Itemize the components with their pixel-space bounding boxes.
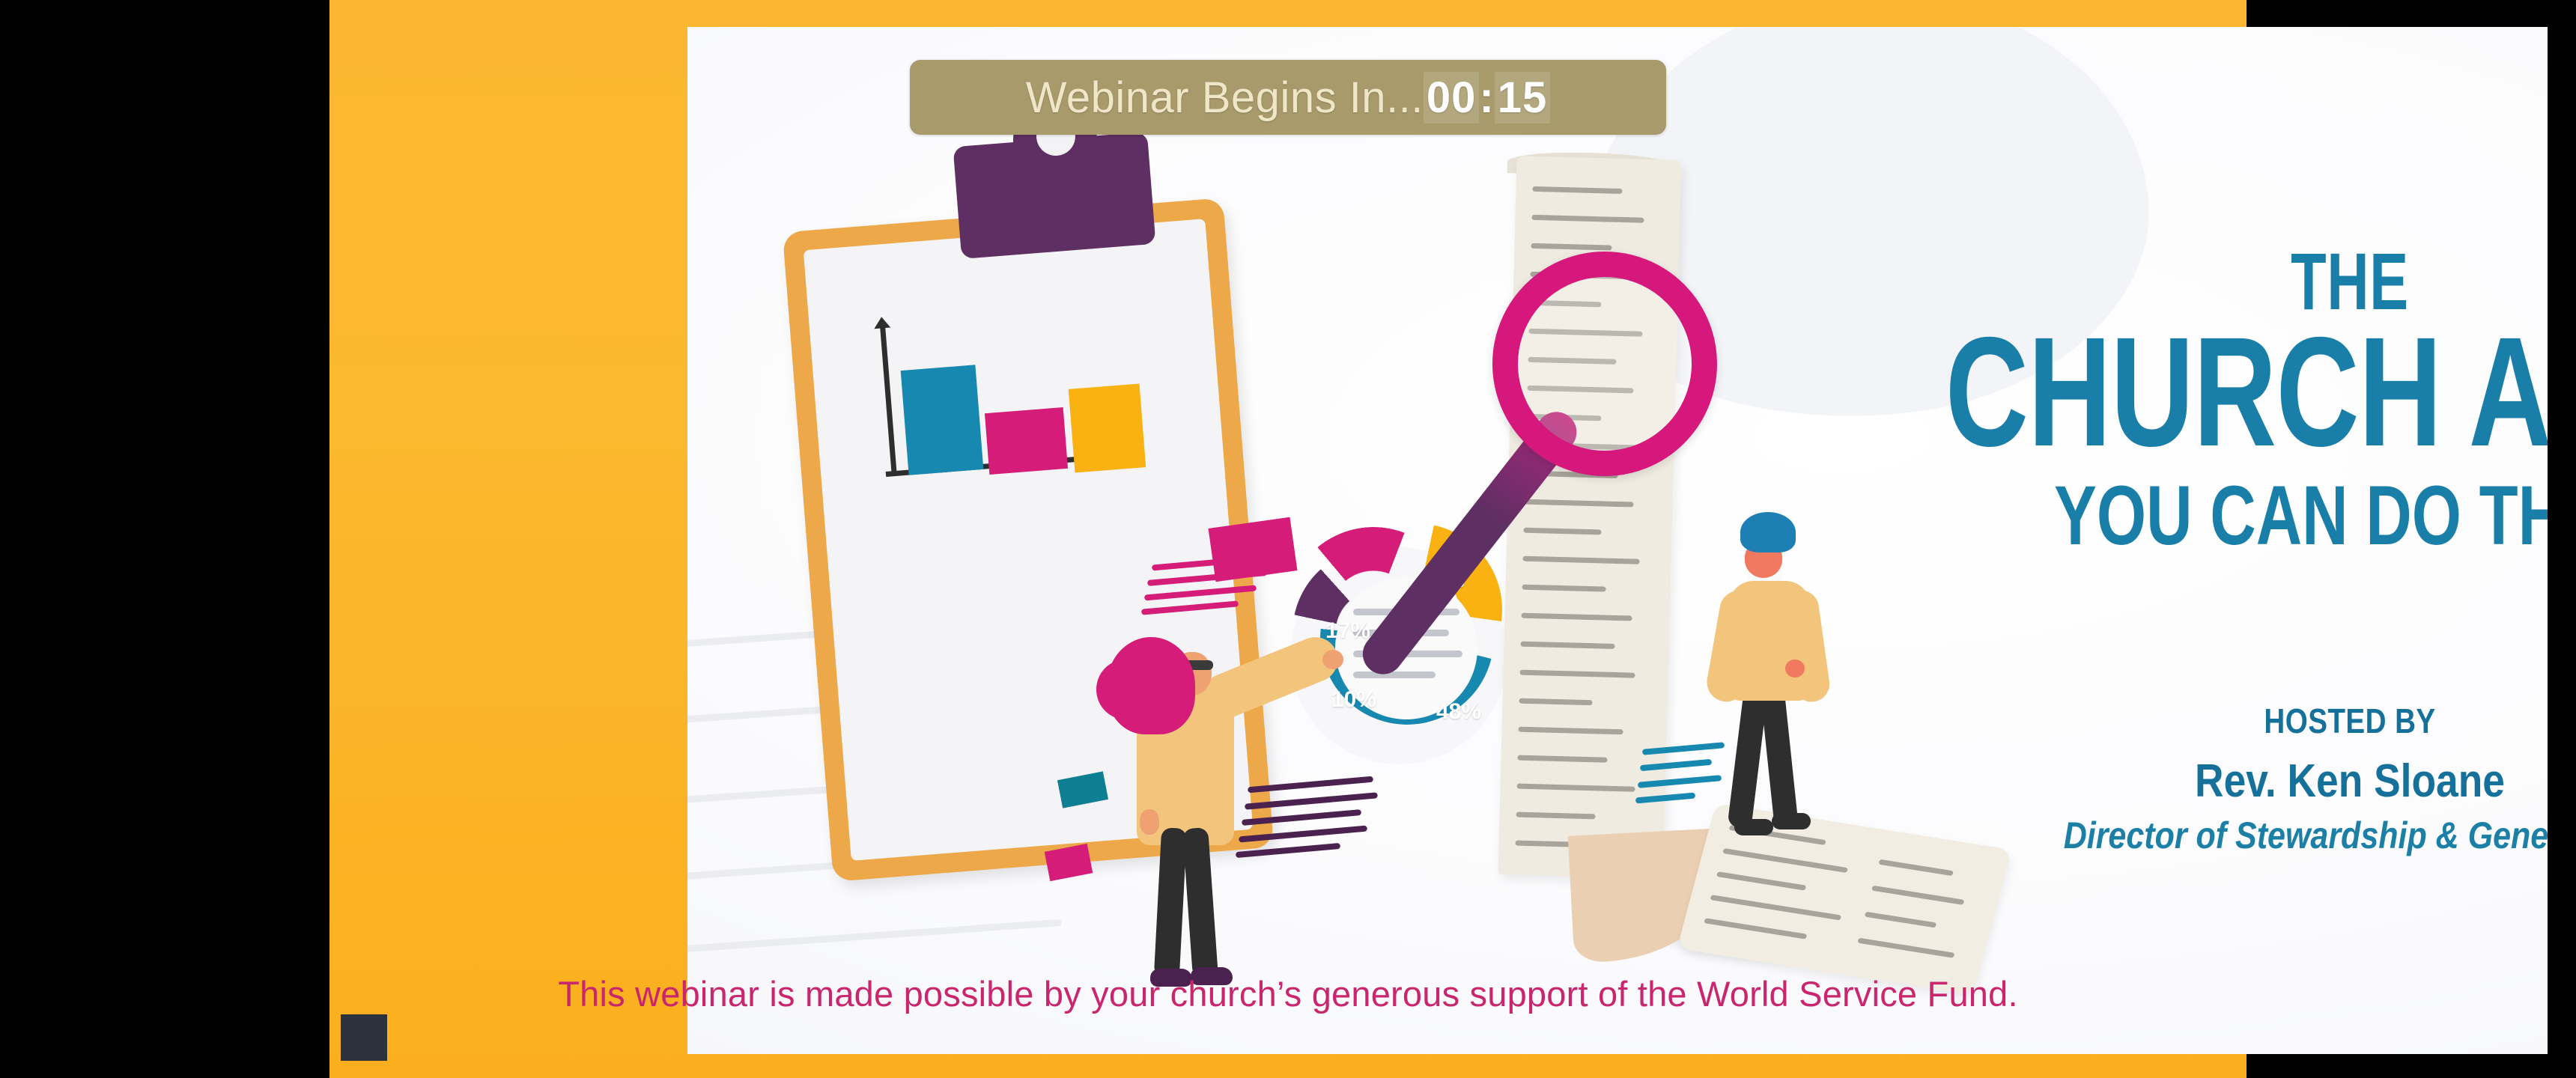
magnifier-lens [1492,252,1717,476]
donut-label-teal: 48% [1436,699,1481,725]
countdown-banner: Webinar Begins In...00:15 [910,60,1666,135]
countdown-minutes: 00 [1424,72,1480,124]
person-left-hand-2 [1140,809,1159,835]
person-right-leg-2 [1760,685,1799,829]
donut-label-magenta: 17% [1325,618,1370,644]
person-left-hair [1107,637,1195,734]
person-left-hand [1322,650,1343,669]
host-title: Director of Stewardship & Generosity [1880,814,2548,857]
countdown-seconds: 15 [1495,72,1551,124]
countdown-separator: : [1479,73,1494,122]
corner-marker [341,1014,387,1061]
host-name: Rev. Ken Sloane [1880,755,2548,808]
donut-label-purple: 10% [1331,687,1376,713]
hero-illustration: 25% 17% 10% 48% [687,27,1811,1054]
hosted-by-label: HOSTED BY [1891,701,2548,741]
person-right-shoe-1 [1734,819,1773,835]
countdown-timer: 00:15 [1424,73,1550,123]
slide-canvas: 25% 17% 10% 48% [687,27,2548,1054]
slide-frame: 25% 17% 10% 48% [329,0,2247,1078]
bar-chart-bar-2 [985,407,1068,475]
bar-chart-bar-1 [901,365,984,475]
sponsor-footer: This webinar is made possible by your ch… [358,973,2218,1014]
bar-chart-bar-3 [1069,383,1146,472]
headline-line-3: YOU CAN DO THIS! [1934,474,2548,558]
slide-headline: THE CHURCH AUDIT: YOU CAN DO THIS! [1803,244,2548,558]
headline-line-2: CHURCH AUDIT: [1945,321,2548,464]
countdown-label: Webinar Begins In... [1026,73,1424,123]
person-right-hand [1785,660,1805,677]
person-right-hair [1740,512,1796,552]
screen: 25% 17% 10% 48% [0,0,2576,1078]
host-block: HOSTED BY Rev. Ken Sloane Director of St… [1803,701,2548,857]
